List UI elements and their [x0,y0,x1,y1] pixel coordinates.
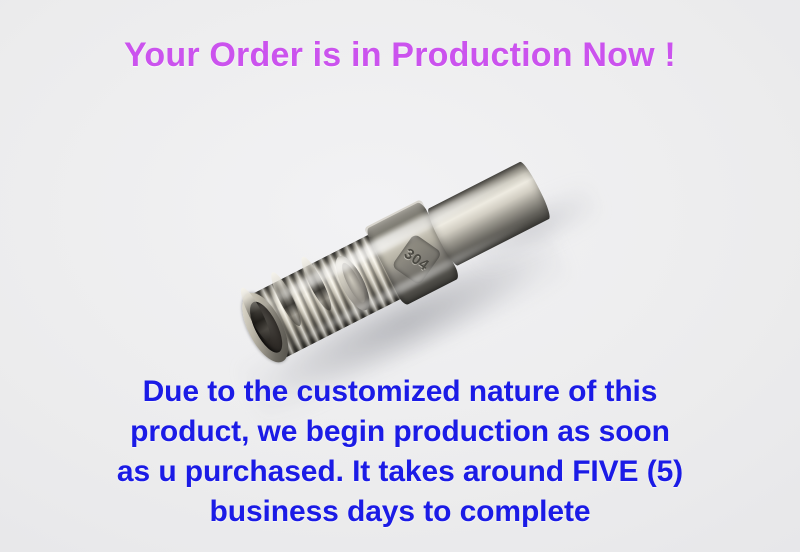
promo-banner: Your Order is in Production Now ! 304 [0,0,800,552]
notice-line-2: product, we begin production as soon [0,412,800,452]
product-photo: 304 [180,120,640,385]
notice-line-1: Due to the customized nature of this [0,372,800,412]
production-notice: Due to the customized nature of this pro… [0,372,800,532]
material-grade-text: 304 [401,245,432,274]
notice-line-4: business days to complete [0,492,800,532]
page-title: Your Order is in Production Now ! [0,36,800,75]
notice-line-3: as u purchased. It takes around FIVE (5) [0,452,800,492]
